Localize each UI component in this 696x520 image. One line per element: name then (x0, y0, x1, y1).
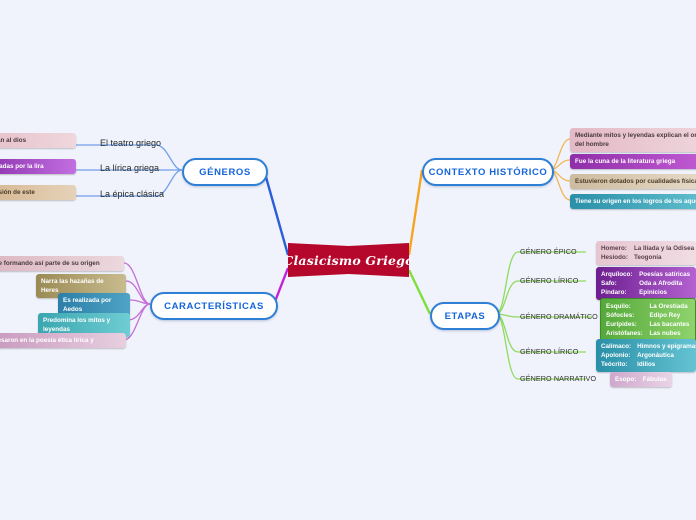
leaf-etapa-epico[interactable]: Homero:La Ilíada y la OdiseaHesíodo:Teog… (596, 241, 696, 265)
trunk-contexto (409, 170, 422, 255)
work-cell: Las nubes (649, 329, 690, 338)
table-lirico-1: Arquíloco:Poesías satíricasSafo:Oda a Af… (601, 270, 691, 297)
table-row: Calímaco:Himnos y epigramas (601, 342, 696, 351)
leaf-etapa-narrativo[interactable]: Esopo:Fábulas (610, 372, 672, 387)
author-cell: Teócrito: (601, 360, 637, 369)
leaf-teatro-detail[interactable]: riegos rendían al dios (0, 133, 76, 148)
table-row: Esquilo:La Orestiada (606, 302, 690, 311)
mindmap-canvas: Clasicismo Griego GÉNEROS CONTEXTO HISTÓ… (0, 0, 696, 520)
center-node[interactable]: Clasicismo Griego (288, 243, 409, 277)
author-cell: Apolonio: (601, 351, 637, 360)
genero-label-teatro[interactable]: El teatro griego (100, 138, 161, 148)
author-cell: Eurípides: (606, 320, 649, 329)
branch-caracteristicas[interactable]: CARACTERÍSTICAS (150, 292, 278, 320)
work-cell: Epinicios (639, 288, 691, 297)
leaf-contexto-2[interactable]: Fue la cuna de la literatura griega (570, 154, 696, 169)
author-cell: Aristófanes: (606, 329, 649, 338)
work-cell: Poesías satíricas (639, 270, 691, 279)
genero-label-epica[interactable]: La épica clásica (100, 189, 164, 199)
work-cell: La Ilíada y la Odisea (634, 244, 694, 253)
table-row: Píndaro:Epinicios (601, 288, 691, 297)
leaf-contexto-3[interactable]: Estuvieron dotados por cualidades física… (570, 174, 696, 189)
table-row: Esopo:Fábulas (615, 375, 667, 384)
leaf-epica-detail[interactable]: e mayor difusión de este (0, 185, 76, 200)
table-row: Hesíodo:Teogonía (601, 253, 694, 262)
work-cell: Teogonía (634, 253, 694, 262)
author-cell: Safo: (601, 279, 639, 288)
etapa-label-epico[interactable]: GÉNERO ÉPICO (520, 247, 577, 256)
branch-generos[interactable]: GÉNEROS (182, 158, 268, 186)
work-cell: La Orestiada (649, 302, 690, 311)
work-cell: Argonáutica (637, 351, 696, 360)
work-cell: Las bacantes (649, 320, 690, 329)
table-epico: Homero:La Ilíada y la OdiseaHesíodo:Teog… (601, 244, 694, 262)
table-dramatico: Esquilo:La OrestiadaSófocles:Edipo ReyEu… (606, 302, 690, 339)
work-cell: Fábulas (643, 375, 667, 384)
table-row: Safo:Oda a Afrodita (601, 279, 691, 288)
author-cell: Esopo: (615, 375, 643, 384)
author-cell: Arquíloco: (601, 270, 639, 279)
table-row: Eurípides:Las bacantes (606, 320, 690, 329)
author-cell: Homero: (601, 244, 634, 253)
etapa-label-lirico-1[interactable]: GÉNERO LÍRICO (520, 276, 578, 285)
trunk-generos (264, 170, 288, 255)
author-cell: Sófocles: (606, 311, 649, 320)
leaf-caracteristica-1[interactable]: ntía oralmente formando así parte de su … (0, 256, 124, 271)
branch-contexto-historico[interactable]: CONTEXTO HISTÓRICO (422, 158, 554, 186)
work-cell: Edipo Rey (649, 311, 690, 320)
work-cell: Idilios (637, 360, 696, 369)
table-row: Apolonio:Argonáutica (601, 351, 696, 360)
leaf-caracteristica-5[interactable]: ones se expresaron en la poesía ética lí… (0, 333, 126, 348)
genero-label-lirica[interactable]: La lírica griega (100, 163, 159, 173)
table-row: Homero:La Ilíada y la Odisea (601, 244, 694, 253)
author-cell: Píndaro: (601, 288, 639, 297)
table-row: Aristófanes:Las nubes (606, 329, 690, 338)
branch-etapas[interactable]: ETAPAS (430, 302, 500, 330)
leaf-lirica-detail[interactable]: s y acompañadas por la lira (0, 159, 76, 174)
etapa-label-lirico-2[interactable]: GÉNERO LÍRICO (520, 347, 578, 356)
table-lirico-2: Calímaco:Himnos y epigramasApolonio:Argo… (601, 342, 696, 369)
leaf-etapa-lirico-1[interactable]: Arquíloco:Poesías satíricasSafo:Oda a Af… (596, 267, 696, 300)
etapa-label-dramatico[interactable]: GÉNERO DRAMÁTICO (520, 312, 598, 321)
table-row: Teócrito:Idilios (601, 360, 696, 369)
etapa-label-narrativo[interactable]: GÉNERO NARRATIVO (520, 374, 596, 383)
author-cell: Esquilo: (606, 302, 649, 311)
leaf-contexto-1[interactable]: Mediante mitos y leyendas explican el or… (570, 128, 696, 152)
work-cell: Himnos y epigramas (637, 342, 696, 351)
leaf-etapa-lirico-2[interactable]: Calímaco:Himnos y epigramasApolonio:Argo… (596, 339, 696, 372)
table-narrativo: Esopo:Fábulas (615, 375, 667, 384)
author-cell: Calímaco: (601, 342, 637, 351)
leaf-etapa-dramatico[interactable]: Esquilo:La OrestiadaSófocles:Edipo ReyEu… (600, 298, 696, 343)
table-row: Sófocles:Edipo Rey (606, 311, 690, 320)
work-cell: Oda a Afrodita (639, 279, 691, 288)
author-cell: Hesíodo: (601, 253, 634, 262)
trunk-etapas (409, 270, 430, 314)
leaf-contexto-4[interactable]: Tiene su origen en los logros de los aqu… (570, 194, 696, 209)
table-row: Arquíloco:Poesías satíricas (601, 270, 691, 279)
